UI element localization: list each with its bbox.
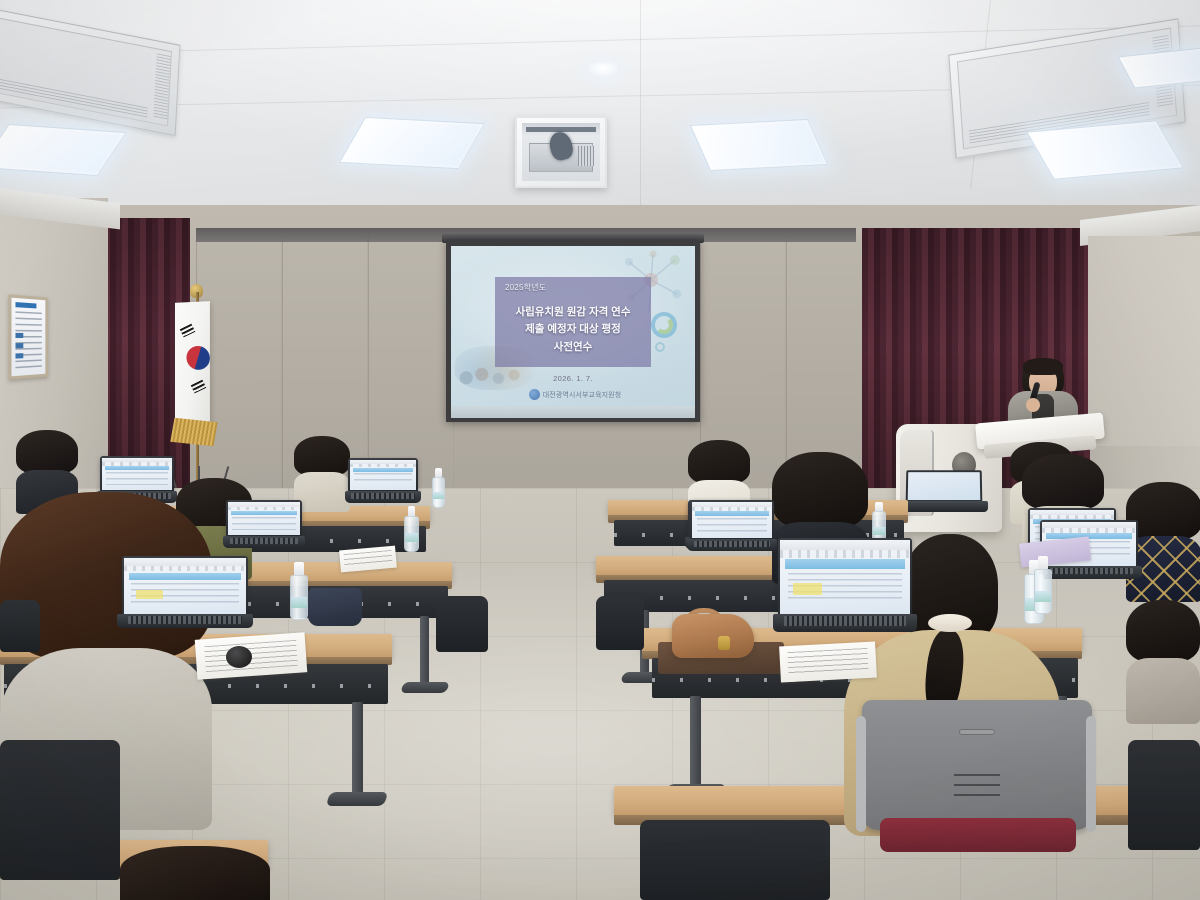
slide-surface: 2025학년도 사립유치원 원감 자격 연수 제출 예정자 대상 평정 사전연수… [451,246,695,406]
chair-foreground-center[interactable] [862,700,1092,830]
round-case [226,646,252,668]
chair-bottom-center[interactable] [640,820,830,900]
decorative-ring-icon [655,316,673,334]
hair-tie [928,614,972,632]
slide-organization: 대전광역시서부교육지원청 [487,389,663,400]
laptop [122,556,248,632]
wall-panel [786,236,868,486]
chair-frame [1086,716,1096,832]
attendee-left-back [294,436,350,508]
slide-year: 2025학년도 [505,282,546,293]
recessed-downlight-icon [586,62,620,78]
laptop [226,500,302,548]
laptop [348,458,418,502]
attendee-right-foreground [1126,600,1200,720]
slide-title-line-2: 제출 예정자 대상 평정 [495,321,651,336]
wall-notice-board [8,294,48,379]
laptop-center [778,538,912,638]
stage-right-wall [1088,236,1200,446]
laptop [690,500,774,552]
chair-frame [856,716,866,832]
chair-left-foreground[interactable] [0,740,120,880]
water-bottle [432,468,445,508]
organization-name: 대전광역시서부교육지원청 [543,390,621,400]
chair[interactable] [0,600,40,652]
projection-screen: 2025학년도 사립유치원 원감 자격 연수 제출 예정자 대상 평정 사전연수… [446,240,700,422]
chair-right-foreground[interactable] [1128,740,1200,850]
navy-pouch [308,588,362,626]
slide-title-line-1: 사립유치원 원감 자격 연수 [495,304,651,319]
water-bottle [290,562,308,620]
decorative-ring-icon [655,342,665,352]
water-bottle [1034,556,1052,614]
slide-date: 2026. 1. 7. [495,374,651,383]
slide-title-line-3: 사전연수 [495,339,651,354]
chair[interactable] [436,596,488,652]
chair-seat[interactable] [880,818,1076,852]
leather-handbag [672,614,754,658]
photo-scene: 2025학년도 사립유치원 원감 자격 연수 제출 예정자 대상 평정 사전연수… [0,0,1200,900]
attendee-bottom-left [120,846,270,900]
led-panel-light-3 [690,119,828,171]
water-bottle [404,506,419,552]
ceiling-projector-housing [515,116,607,188]
podium-laptop [902,470,988,514]
handbag-clasp-icon [718,636,730,650]
handout-papers [779,642,877,683]
chair[interactable] [596,596,644,650]
education-office-logo-icon [529,389,540,400]
flag-fringe [170,418,217,447]
